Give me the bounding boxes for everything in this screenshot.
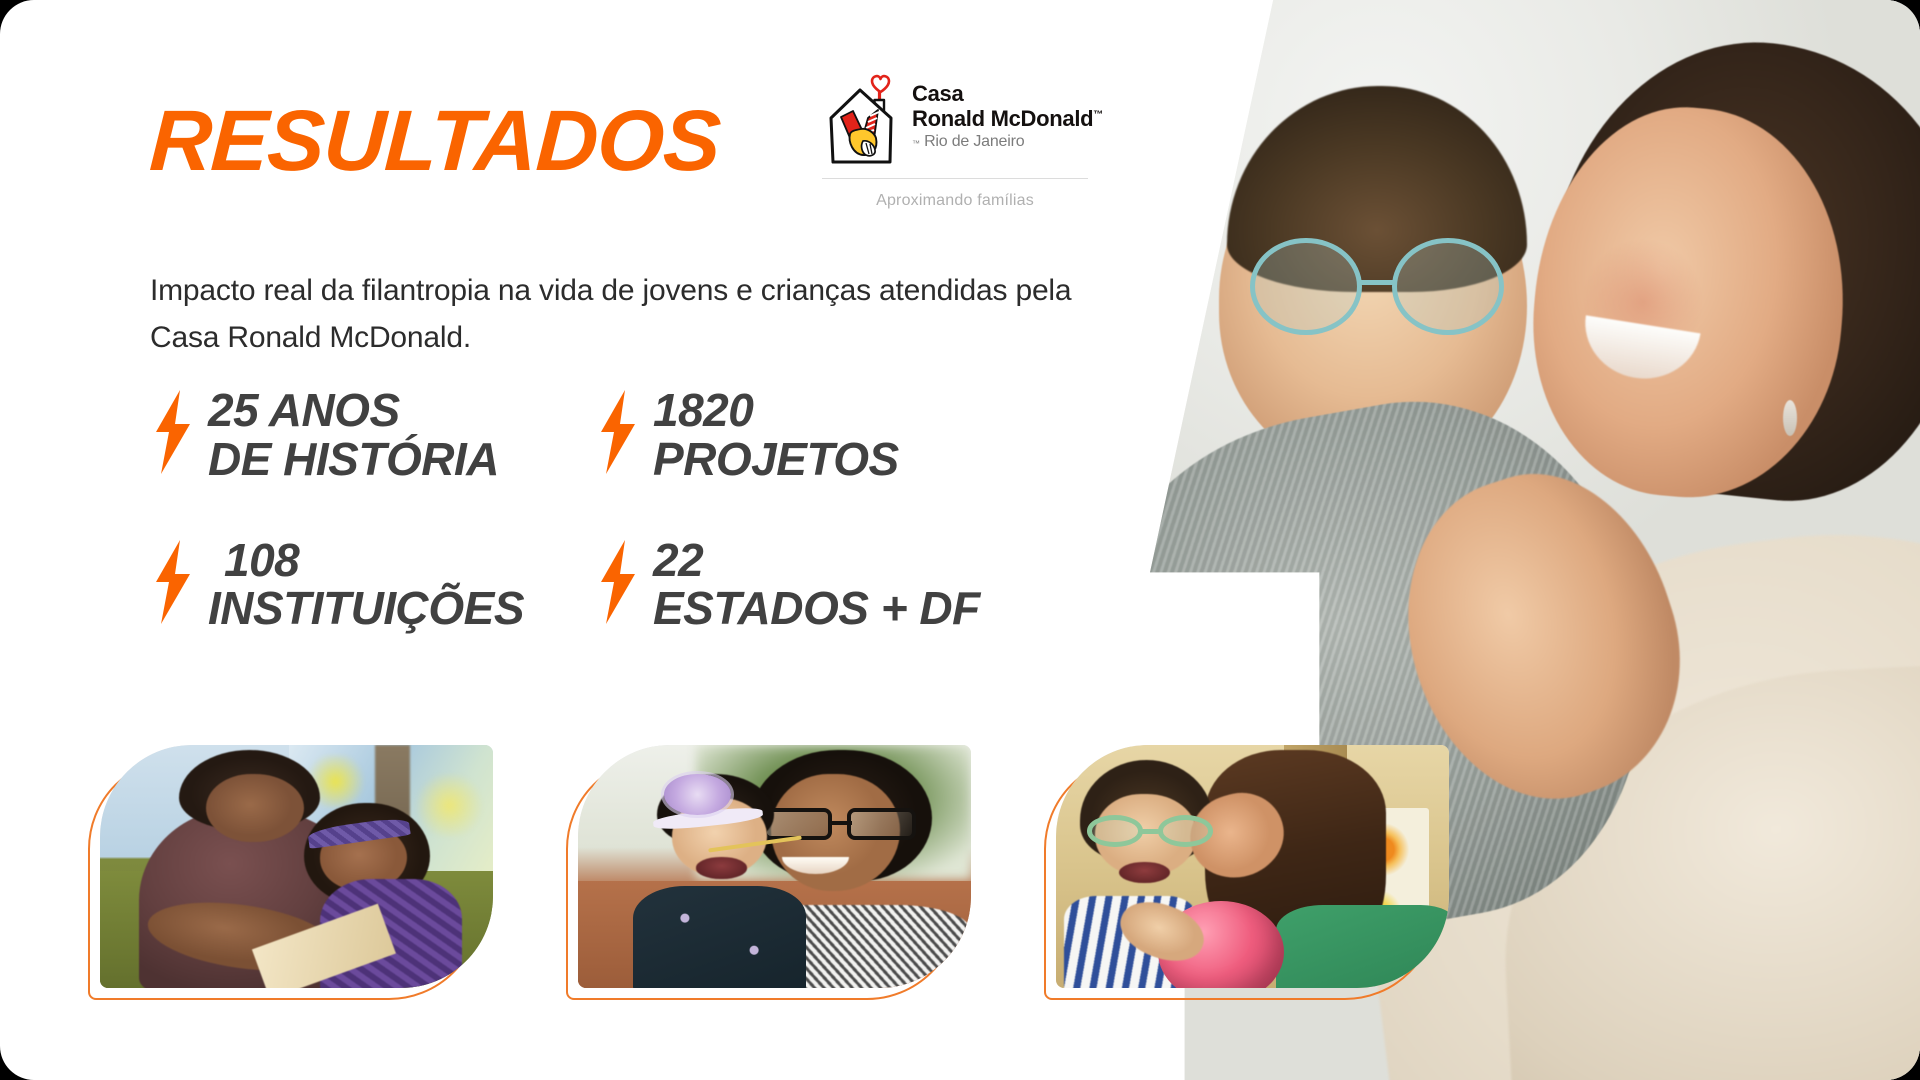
stat-label: DE HISTÓRIA bbox=[208, 435, 499, 484]
lightning-bolt-icon bbox=[150, 540, 192, 624]
stats-grid: 25 ANOS DE HISTÓRIA 1820 PROJETOS 108 IN… bbox=[150, 386, 1110, 633]
stat-item-estados: 22 ESTADOS + DF bbox=[595, 536, 1040, 634]
logo-line-3: Rio de Janeiro bbox=[924, 133, 1024, 150]
results-slide: RESULTADOS bbox=[0, 0, 1920, 1080]
stat-number: 22 bbox=[653, 536, 980, 585]
logo-line-2: Ronald McDonald bbox=[912, 106, 1093, 131]
glasses-bridge bbox=[830, 821, 851, 825]
photo-mother-and-girl-reading-book bbox=[100, 745, 493, 988]
logo-line-3-tm: ™ bbox=[912, 139, 920, 148]
stat-label: INSTITUIÇÕES bbox=[208, 584, 524, 633]
photo-card-frame bbox=[578, 745, 971, 988]
photo3-woman-green-top bbox=[1276, 905, 1449, 988]
logo-trademark: ™ bbox=[1093, 109, 1103, 120]
stat-item-projetos: 1820 PROJETOS bbox=[595, 386, 1040, 484]
lightning-bolt-icon bbox=[595, 540, 637, 624]
lightning-bolt-icon bbox=[150, 390, 192, 474]
glasses-bridge bbox=[1357, 280, 1398, 285]
glasses-left-lens bbox=[1250, 238, 1362, 335]
stat-label: PROJETOS bbox=[653, 435, 899, 484]
photo-card-frame bbox=[1056, 745, 1449, 988]
brand-logo: Casa Ronald McDonald™ ™ Rio de Janeiro A… bbox=[822, 62, 1092, 210]
casa-ronald-mcdonald-house-heart-hands-logo-icon bbox=[822, 62, 900, 166]
logo-tagline: Aproximando famílias bbox=[822, 192, 1088, 210]
hero-child-teal-glasses bbox=[1250, 238, 1504, 335]
page-title: RESULTADOS bbox=[148, 98, 722, 184]
glasses-right-lens bbox=[847, 808, 916, 840]
logo-line-1: Casa bbox=[912, 82, 1103, 107]
lightning-bolt-icon bbox=[595, 390, 637, 474]
photo1-woman-face bbox=[206, 774, 304, 842]
photo2-baby-mouth bbox=[696, 857, 747, 879]
hero-woman-earring bbox=[1783, 400, 1797, 436]
glasses-left-lens bbox=[1087, 815, 1142, 847]
stat-item-anos: 25 ANOS DE HISTÓRIA bbox=[150, 386, 595, 484]
stat-number: 108 bbox=[208, 536, 524, 585]
glasses-bridge bbox=[1140, 829, 1160, 834]
stat-label: ESTADOS + DF bbox=[653, 584, 980, 633]
photo3-child-green-glasses bbox=[1087, 815, 1213, 847]
photo1-foliage-right bbox=[414, 774, 485, 837]
glasses-right-lens bbox=[1158, 815, 1213, 847]
logo-divider bbox=[822, 178, 1088, 179]
photo-woman-kissing-child-with-pink-ball bbox=[1056, 745, 1449, 988]
photo2-woman-glasses bbox=[763, 808, 916, 840]
stat-number: 1820 bbox=[653, 386, 899, 435]
photo-card-frame bbox=[100, 745, 493, 988]
photo2-baby-dress bbox=[633, 886, 806, 988]
stat-number: 25 ANOS bbox=[208, 386, 499, 435]
photo-woman-with-glasses-holding-baby bbox=[578, 745, 971, 988]
glasses-right-lens bbox=[1392, 238, 1504, 335]
intro-paragraph: Impacto real da filantropia na vida de j… bbox=[150, 268, 1130, 361]
stat-item-instituicoes: 108 INSTITUIÇÕES bbox=[150, 536, 595, 634]
